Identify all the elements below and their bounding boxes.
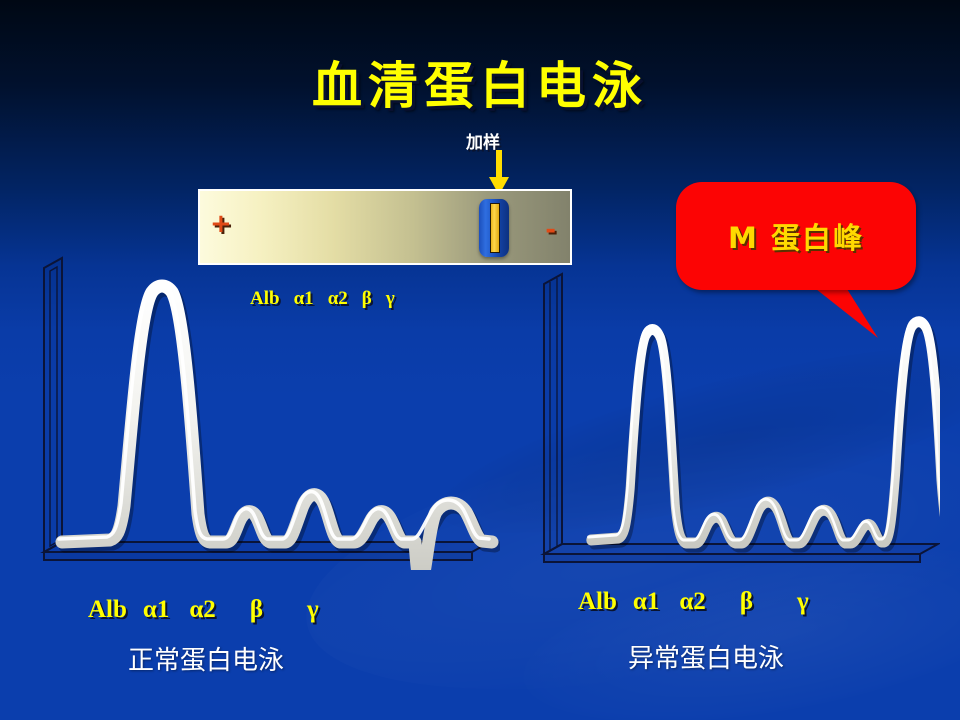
- page-title: 血清蛋白电泳: [0, 46, 960, 118]
- normal-band-label-gamma: γ: [307, 596, 319, 624]
- normal-band-labels: Albα1α2βγ: [88, 596, 319, 624]
- abnormal-band-label-beta: β: [740, 588, 753, 616]
- normal-band-label-beta: β: [250, 596, 263, 624]
- slide-canvas: 血清蛋白电泳 加样 + - Albα1α2βγ: [0, 0, 960, 720]
- abnormal-band-label-alb: Alb: [578, 588, 617, 616]
- abnormal-band-label-a2: α2: [679, 588, 705, 616]
- abnormal-band-label-a1: α1: [633, 588, 659, 616]
- sample-well-bar: [490, 203, 500, 253]
- anode-plus-sign: +: [210, 211, 232, 237]
- abnormal-band-labels: Albα1α2βγ: [578, 588, 809, 616]
- normal-band-label-alb: Alb: [88, 596, 127, 624]
- sample-well: [479, 199, 509, 257]
- normal-chart-caption: 正常蛋白电泳: [128, 640, 284, 677]
- normal-y-axis-slab: [44, 258, 62, 552]
- abnormal-chart-caption: 异常蛋白电泳: [628, 638, 784, 675]
- abnormal-y-axis-slab: [544, 274, 562, 554]
- normal-electropherogram: [40, 250, 500, 570]
- cathode-minus-sign: -: [545, 217, 556, 243]
- abnormal-band-label-gamma: γ: [797, 588, 809, 616]
- m-protein-callout-text: M 蛋白峰: [676, 182, 916, 290]
- normal-band-label-a1: α1: [143, 596, 169, 624]
- normal-band-label-a2: α2: [189, 596, 215, 624]
- m-protein-callout[interactable]: M 蛋白峰: [676, 182, 916, 290]
